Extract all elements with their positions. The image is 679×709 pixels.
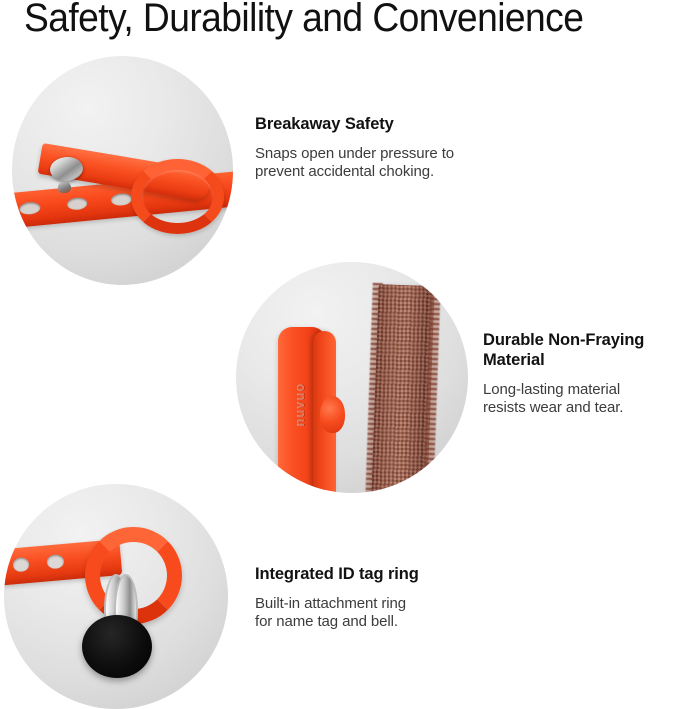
id-tag-ring-photo-content	[4, 484, 228, 709]
strap-hole	[46, 554, 64, 569]
collar-loop	[131, 159, 224, 234]
feature-description: Built-in attachment ring for name tag an…	[255, 595, 485, 630]
strap-hole	[12, 557, 30, 572]
feature-description: Snaps open under pressure to prevent acc…	[255, 145, 495, 180]
feature-title: Durable Non-Fraying Material	[483, 330, 679, 370]
feature-text-integrated-id-tag-ring: Integrated ID tag ring Built-in attachme…	[255, 564, 485, 630]
strap-hole	[110, 192, 132, 206]
feature-title: Integrated ID tag ring	[255, 564, 485, 584]
breakaway-buckle-photo	[12, 56, 233, 285]
strap-hole	[18, 201, 40, 215]
id-tag-ring-photo	[4, 484, 228, 709]
feature-text-durable-non-fraying-material: Durable Non-Fraying Material Long-lastin…	[483, 330, 679, 416]
material-comparison-photo: nuvuo	[236, 262, 468, 493]
feature-title: Breakaway Safety	[255, 114, 495, 134]
feature-text-breakaway-safety: Breakaway Safety Snaps open under pressu…	[255, 114, 495, 180]
material-comparison-photo-content: nuvuo	[236, 262, 468, 493]
silicone-strap-keeper	[320, 396, 346, 433]
breakaway-buckle-photo-content	[12, 56, 233, 285]
page-title: Safety, Durability and Convenience	[24, 0, 583, 41]
id-tag	[82, 615, 151, 678]
feature-description: Long-lasting material resists wear and t…	[483, 381, 679, 416]
strap-hole	[66, 196, 88, 210]
